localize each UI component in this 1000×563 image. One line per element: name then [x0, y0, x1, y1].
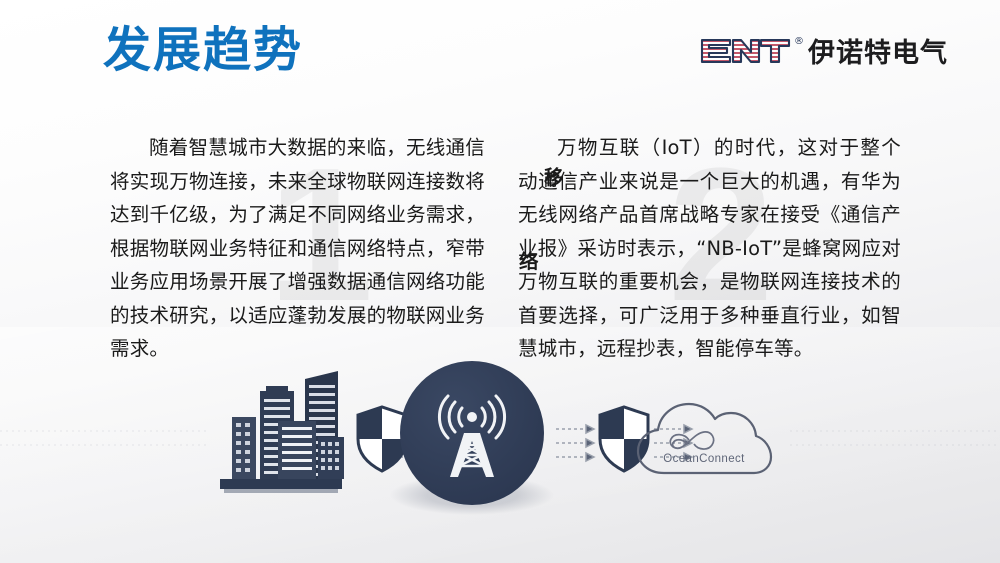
page-title: 发展趋势	[103, 23, 303, 78]
dataflow-arrows-center-right	[556, 425, 594, 461]
right-paragraph: 万物互联（IoT）的时代，这对于整个动通信产业来说是一个巨大的机遇，有华为无线网…	[518, 131, 901, 366]
left-paragraph: 随着智慧城市大数据的来临，无线通信将实现万物连接，未来全球物联网连接数将达到千亿…	[110, 131, 485, 366]
registered-trademark-icon: ®	[794, 37, 804, 47]
ent-logo-icon	[700, 36, 792, 70]
right-text-column: 万物互联（IoT）的时代，这对于整个动通信产业来说是一个巨大的机遇，有华为无线网…	[518, 131, 901, 366]
cloud-label: OceanConnect	[663, 453, 745, 465]
cellular-tower-node	[390, 361, 554, 515]
smart-city-buildings-icon	[220, 371, 344, 493]
security-shield-left-icon	[358, 407, 406, 471]
iot-architecture-diagram: OceanConnect	[0, 345, 1000, 555]
left-text-column: 随着智慧城市大数据的来临，无线通信将实现万物连接，未来全球物联网连接数将达到千亿…	[110, 131, 485, 366]
company-name-cn: 伊诺特电气	[808, 40, 948, 67]
slide-canvas: 1 2 发展趋势 ® 伊诺特电气 随着	[0, 0, 1000, 563]
company-logo: ® 伊诺特电气	[700, 35, 948, 71]
oceanconnect-cloud-icon: OceanConnect	[638, 404, 771, 473]
